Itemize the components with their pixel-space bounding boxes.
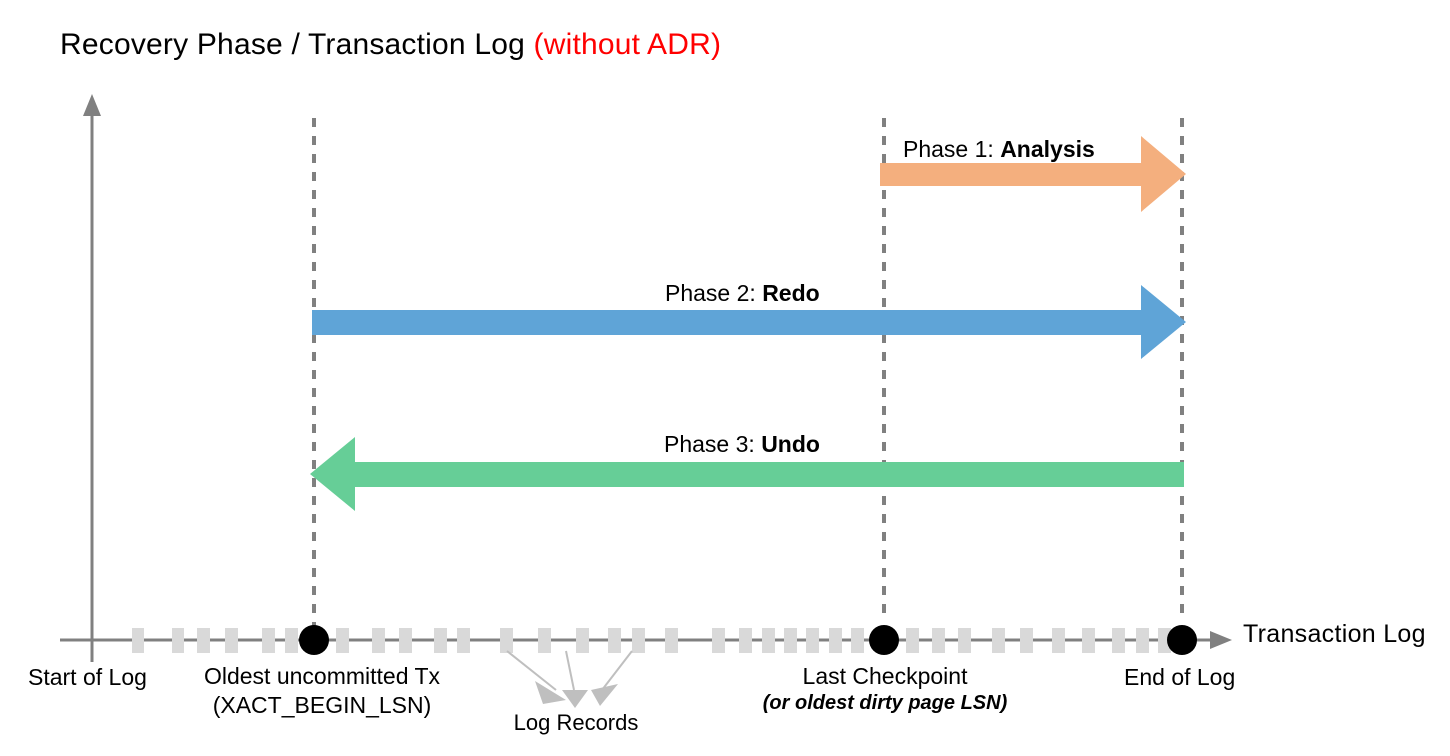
phase-2-label: Phase 2: Redo xyxy=(665,279,820,307)
phase-1-label: Phase 1: Analysis xyxy=(903,135,1095,163)
page-title-main: Recovery Phase / Transaction Log xyxy=(60,28,534,61)
page-title: Recovery Phase / Transaction Log (withou… xyxy=(60,25,721,65)
phase-1-prefix: Phase 1: xyxy=(903,136,1000,162)
page-title-sub: (without ADR) xyxy=(534,28,722,61)
oldest-uncommitted-tx-label: Oldest uncommitted Tx (XACT_BEGIN_LSN) xyxy=(194,662,450,720)
phase-3-prefix: Phase 3: xyxy=(664,431,761,457)
start-of-log-label: Start of Log xyxy=(28,663,147,692)
y-axis xyxy=(83,94,101,662)
phase-1-name: Analysis xyxy=(1000,136,1095,162)
diagram-canvas: Recovery Phase / Transaction Log (withou… xyxy=(0,0,1450,756)
oldest-uncommitted-tx-title: Oldest uncommitted Tx xyxy=(204,663,440,689)
log-records-label: Log Records xyxy=(500,708,652,737)
last-checkpoint-sublabel: (or oldest dirty page LSN) xyxy=(760,691,1010,716)
oldest-uncommitted-tx-lsn: (XACT_BEGIN_LSN) xyxy=(213,692,432,718)
log-records-leaders xyxy=(507,651,632,708)
last-checkpoint-title: Last Checkpoint xyxy=(803,663,968,689)
guide-lines xyxy=(314,118,1182,632)
diagram-vector-layer xyxy=(0,0,1450,756)
end-of-log-label: End of Log xyxy=(1124,663,1235,692)
phase-2-name: Redo xyxy=(762,280,820,306)
last-checkpoint-label: Last Checkpoint (or oldest dirty page LS… xyxy=(760,662,1010,716)
phase-3-label: Phase 3: Undo xyxy=(664,430,820,458)
phase-3-name: Undo xyxy=(761,431,820,457)
marker-last-checkpoint xyxy=(869,625,899,655)
marker-oldest-tx xyxy=(299,625,329,655)
phase-2-prefix: Phase 2: xyxy=(665,280,762,306)
marker-end-of-log xyxy=(1167,625,1197,655)
x-axis-title: Transaction Log xyxy=(1243,620,1426,649)
